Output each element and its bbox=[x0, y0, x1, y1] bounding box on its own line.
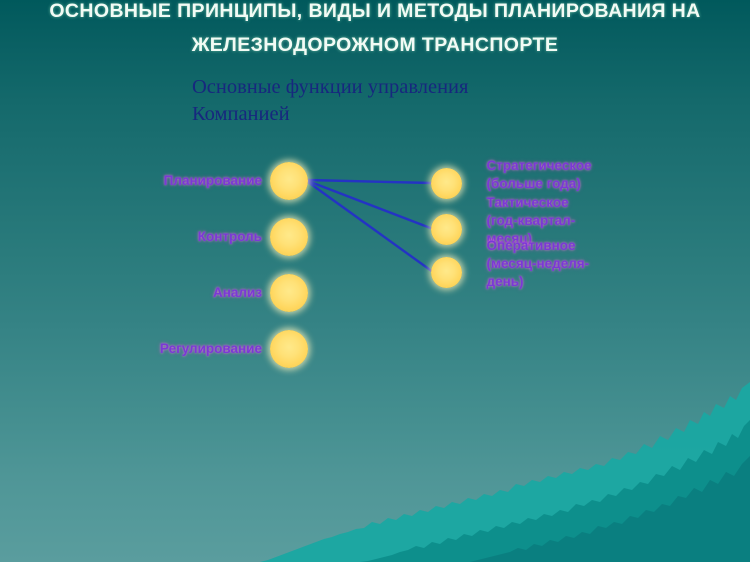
slide-canvas: ОСНОВНЫЕ ПРИНЦИПЫ, ВИДЫ И МЕТОДЫ ПЛАНИРО… bbox=[0, 0, 750, 562]
connector-line bbox=[308, 181, 433, 229]
page-subtitle: Основные функции управления Компанией bbox=[192, 74, 612, 128]
right-node-label-3: Оперативное (месяц-неделя- день) bbox=[487, 237, 609, 291]
connector-line bbox=[308, 182, 433, 272]
left-node-2[interactable] bbox=[270, 218, 308, 256]
page-title: ОСНОВНЫЕ ПРИНЦИПЫ, ВИДЫ И МЕТОДЫ ПЛАНИРО… bbox=[0, 0, 750, 62]
left-node-4[interactable] bbox=[270, 330, 308, 368]
left-node-label-4: Регулирование bbox=[87, 340, 262, 358]
right-node-2[interactable] bbox=[431, 214, 462, 245]
right-node-1[interactable] bbox=[431, 168, 462, 199]
left-node-label-3: Анализ bbox=[87, 284, 262, 302]
left-node-label-2: Контроль bbox=[87, 228, 262, 246]
right-node-label-1: Стратегическое (больше года) bbox=[487, 157, 609, 193]
left-node-label-1: Планирование bbox=[87, 172, 262, 190]
right-node-3[interactable] bbox=[431, 257, 462, 288]
connector-line bbox=[308, 180, 432, 183]
left-node-3[interactable] bbox=[270, 274, 308, 312]
left-node-1[interactable] bbox=[270, 162, 308, 200]
